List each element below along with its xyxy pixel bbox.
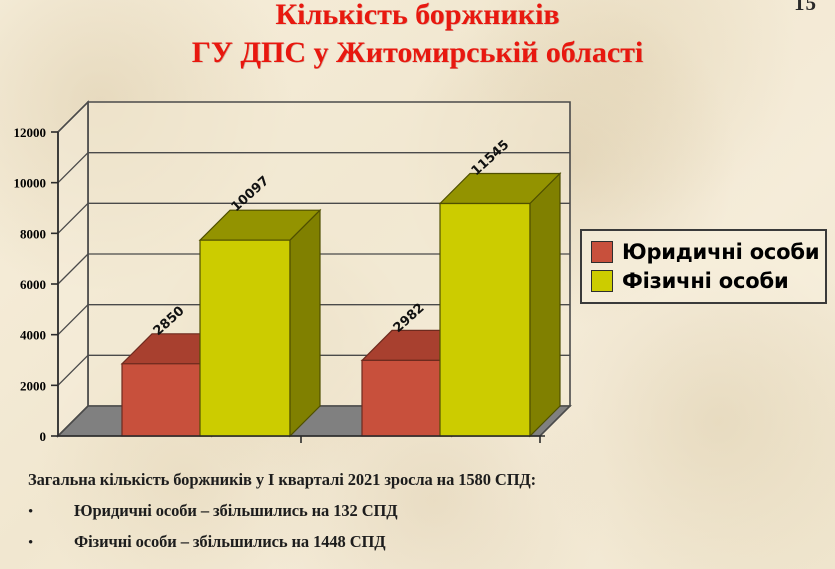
bar-2-individuals xyxy=(440,174,560,437)
y-tick-2000: 2000 xyxy=(20,378,46,393)
page-title: Кількість боржників ГУ ДПС у Житомирські… xyxy=(0,0,835,71)
y-tick-labels: 12000 10000 8000 6000 4000 2000 0 xyxy=(14,125,47,443)
legend-swatch-individuals xyxy=(591,270,613,292)
bar-1-individuals xyxy=(200,210,320,436)
legend-item-legal-entities: Юридичні особи xyxy=(591,237,816,266)
bullet-icon: • xyxy=(28,505,74,520)
summary-lead: Загальна кількість боржників у І квартал… xyxy=(28,470,808,490)
legend-item-individuals: Фізичні особи xyxy=(591,266,816,295)
y-tick-0: 0 xyxy=(40,429,47,443)
y-tick-10000: 10000 xyxy=(14,176,47,191)
title-line-1: Кількість боржників xyxy=(275,0,559,31)
y-axis xyxy=(51,132,58,436)
legend-label-legal-entities: Юридичні особи xyxy=(622,240,819,264)
legend-label-individuals: Фізичні особи xyxy=(622,269,788,293)
bar-1-indiv-front xyxy=(200,240,290,436)
bullet-icon: • xyxy=(28,536,74,551)
bar-2-indiv-side xyxy=(530,174,560,437)
chart-legend: Юридичні особи Фізичні особи xyxy=(580,229,827,304)
list-item: • Фізичні особи – збільшились на 1448 СП… xyxy=(28,532,808,552)
bar-2-indiv-front xyxy=(440,204,530,437)
bar-2-legal-front xyxy=(362,360,452,436)
bar-1-legal-front xyxy=(122,364,212,436)
legend-swatch-legal-entities xyxy=(591,241,613,263)
list-item: • Юридичні особи – збільшились на 132 СП… xyxy=(28,501,808,521)
x-axis xyxy=(58,436,545,443)
y-tick-6000: 6000 xyxy=(20,277,46,292)
y-tick-8000: 8000 xyxy=(20,226,46,241)
title-line-2: ГУ ДПС у Житомирській області xyxy=(0,34,835,72)
summary-block: Загальна кількість боржників у І квартал… xyxy=(28,470,808,563)
bullet-text-legal-entities: Юридичні особи – збільшились на 132 СПД xyxy=(74,501,398,521)
y-tick-12000: 12000 xyxy=(14,125,47,140)
bar-1-indiv-side xyxy=(290,210,320,436)
bullet-text-individuals: Фізичні особи – збільшились на 1448 СПД xyxy=(74,532,386,552)
y-tick-4000: 4000 xyxy=(20,328,46,343)
